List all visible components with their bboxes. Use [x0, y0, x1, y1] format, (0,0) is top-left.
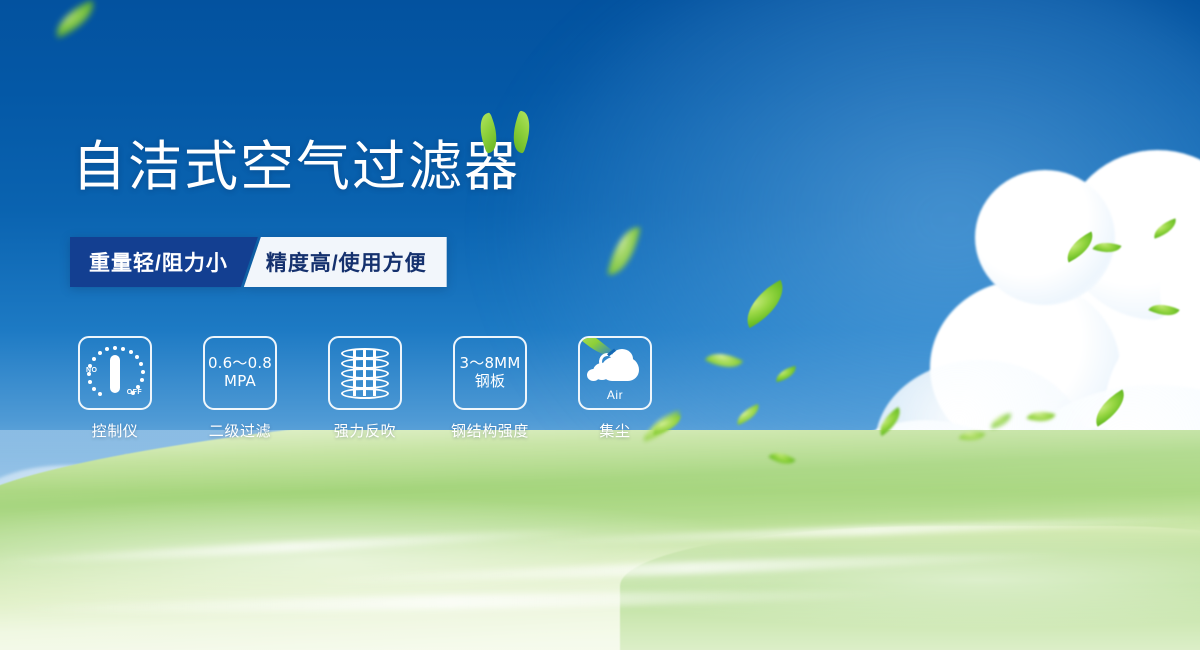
subtitle-left-segment: 重量轻/阻力小 [70, 237, 258, 287]
feature-item-backblow[interactable]: 强力反吹 [328, 336, 402, 441]
feature-list: NO OFF 控制仪 0.6～0.8 MPA 二级过滤 [78, 336, 652, 441]
control-dial-icon: NO OFF [78, 336, 152, 410]
pressure-value-line2: MPA [208, 373, 272, 391]
feature-label: 控制仪 [92, 420, 139, 441]
grass-field [0, 430, 1200, 650]
feature-item-pressure[interactable]: 0.6～0.8 MPA 二级过滤 [203, 336, 277, 441]
cloud-graphic: Air [587, 347, 643, 399]
dial-off-label: OFF [127, 389, 142, 396]
feature-label: 强力反吹 [334, 420, 396, 441]
feature-label: 集尘 [599, 420, 630, 441]
pressure-text-icon: 0.6～0.8 MPA [203, 336, 277, 410]
dial-graphic: NO OFF [87, 346, 143, 400]
dial-no-label: NO [86, 367, 97, 374]
feature-item-dust-collection[interactable]: Air 集尘 [578, 336, 652, 441]
steel-plate-text-icon: 3～8MM 钢板 [453, 336, 527, 410]
product-banner: 自洁式空气过滤器 重量轻/阻力小 精度高/使用方便 [0, 0, 1200, 650]
cartridge-graphic [341, 346, 389, 400]
dial-switch-stick [110, 355, 120, 393]
pressure-value-line1: 0.6～0.8 [208, 354, 272, 372]
subtitle-right-segment: 精度高/使用方便 [244, 237, 447, 287]
air-cloud-icon: Air [578, 336, 652, 410]
page-title: 自洁式空气过滤器 [72, 140, 520, 194]
subtitle-bar: 重量轻/阻力小 精度高/使用方便 [70, 237, 447, 287]
feature-label: 二级过滤 [209, 420, 271, 441]
filter-cartridge-icon [328, 336, 402, 410]
feature-item-control-dial[interactable]: NO OFF 控制仪 [78, 336, 152, 441]
feature-label: 钢结构强度 [451, 420, 529, 441]
air-text-label: Air [587, 388, 643, 402]
feature-item-steel-strength[interactable]: 3～8MM 钢板 钢结构强度 [453, 336, 527, 441]
steel-value-line2: 钢板 [460, 373, 521, 391]
steel-value-line1: 3～8MM [460, 354, 521, 372]
